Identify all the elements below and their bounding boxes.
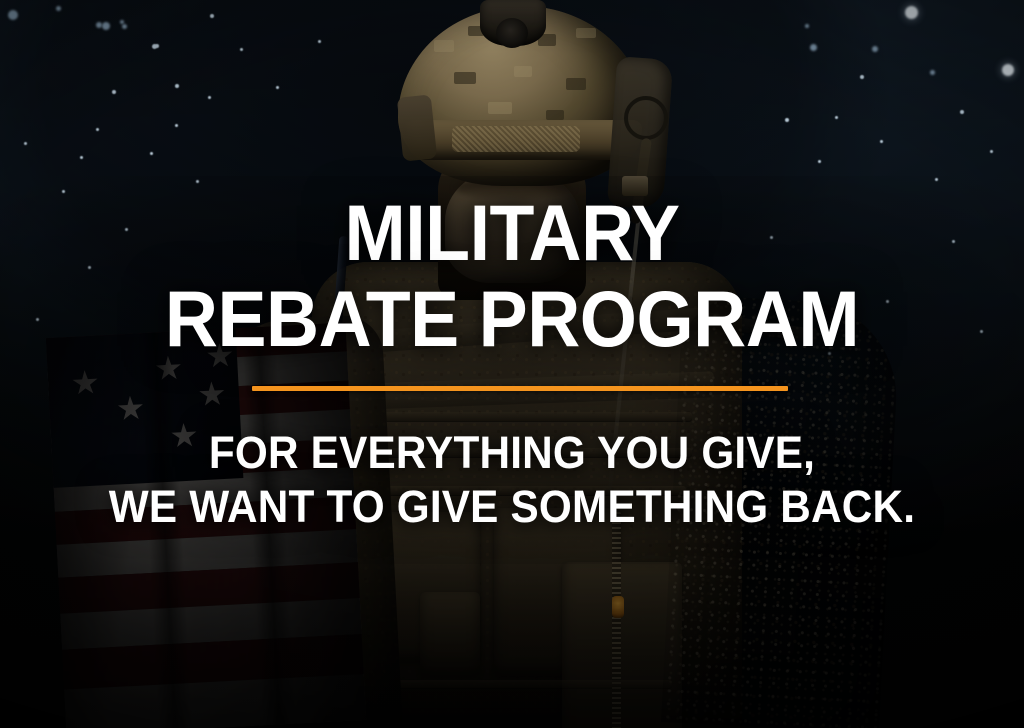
camo-fleck bbox=[454, 72, 476, 84]
camo-fleck bbox=[434, 40, 454, 52]
headset-earcup bbox=[624, 96, 668, 140]
small-pouch bbox=[420, 592, 480, 676]
military-rebate-hero-banner: MILITARY REBATE PROGRAM FOR EVERYTHING Y… bbox=[0, 0, 1024, 728]
nvg-mount-icon bbox=[480, 0, 546, 46]
camo-fleck bbox=[546, 110, 564, 120]
background-photo bbox=[0, 0, 1024, 728]
camo-fleck bbox=[576, 28, 596, 38]
subheadline-line-1: FOR EVERYTHING YOU GIVE, bbox=[31, 430, 994, 475]
camo-fleck bbox=[566, 78, 586, 90]
camo-fleck bbox=[514, 66, 532, 77]
camo-fleck bbox=[488, 102, 512, 114]
helmet-rail-left bbox=[397, 94, 438, 161]
subheadline-line-2: WE WANT TO GIVE SOMETHING BACK. bbox=[31, 484, 994, 529]
headline-line-2: REBATE PROGRAM bbox=[36, 282, 988, 356]
headline-line-1: MILITARY bbox=[36, 196, 988, 270]
molle-webbing bbox=[352, 412, 692, 421]
zipper-detail bbox=[612, 512, 621, 728]
helmet-velcro-patch bbox=[452, 126, 580, 152]
amber-light-accent bbox=[612, 596, 624, 618]
orange-divider-rule bbox=[252, 386, 788, 391]
molle-webbing bbox=[372, 680, 672, 688]
